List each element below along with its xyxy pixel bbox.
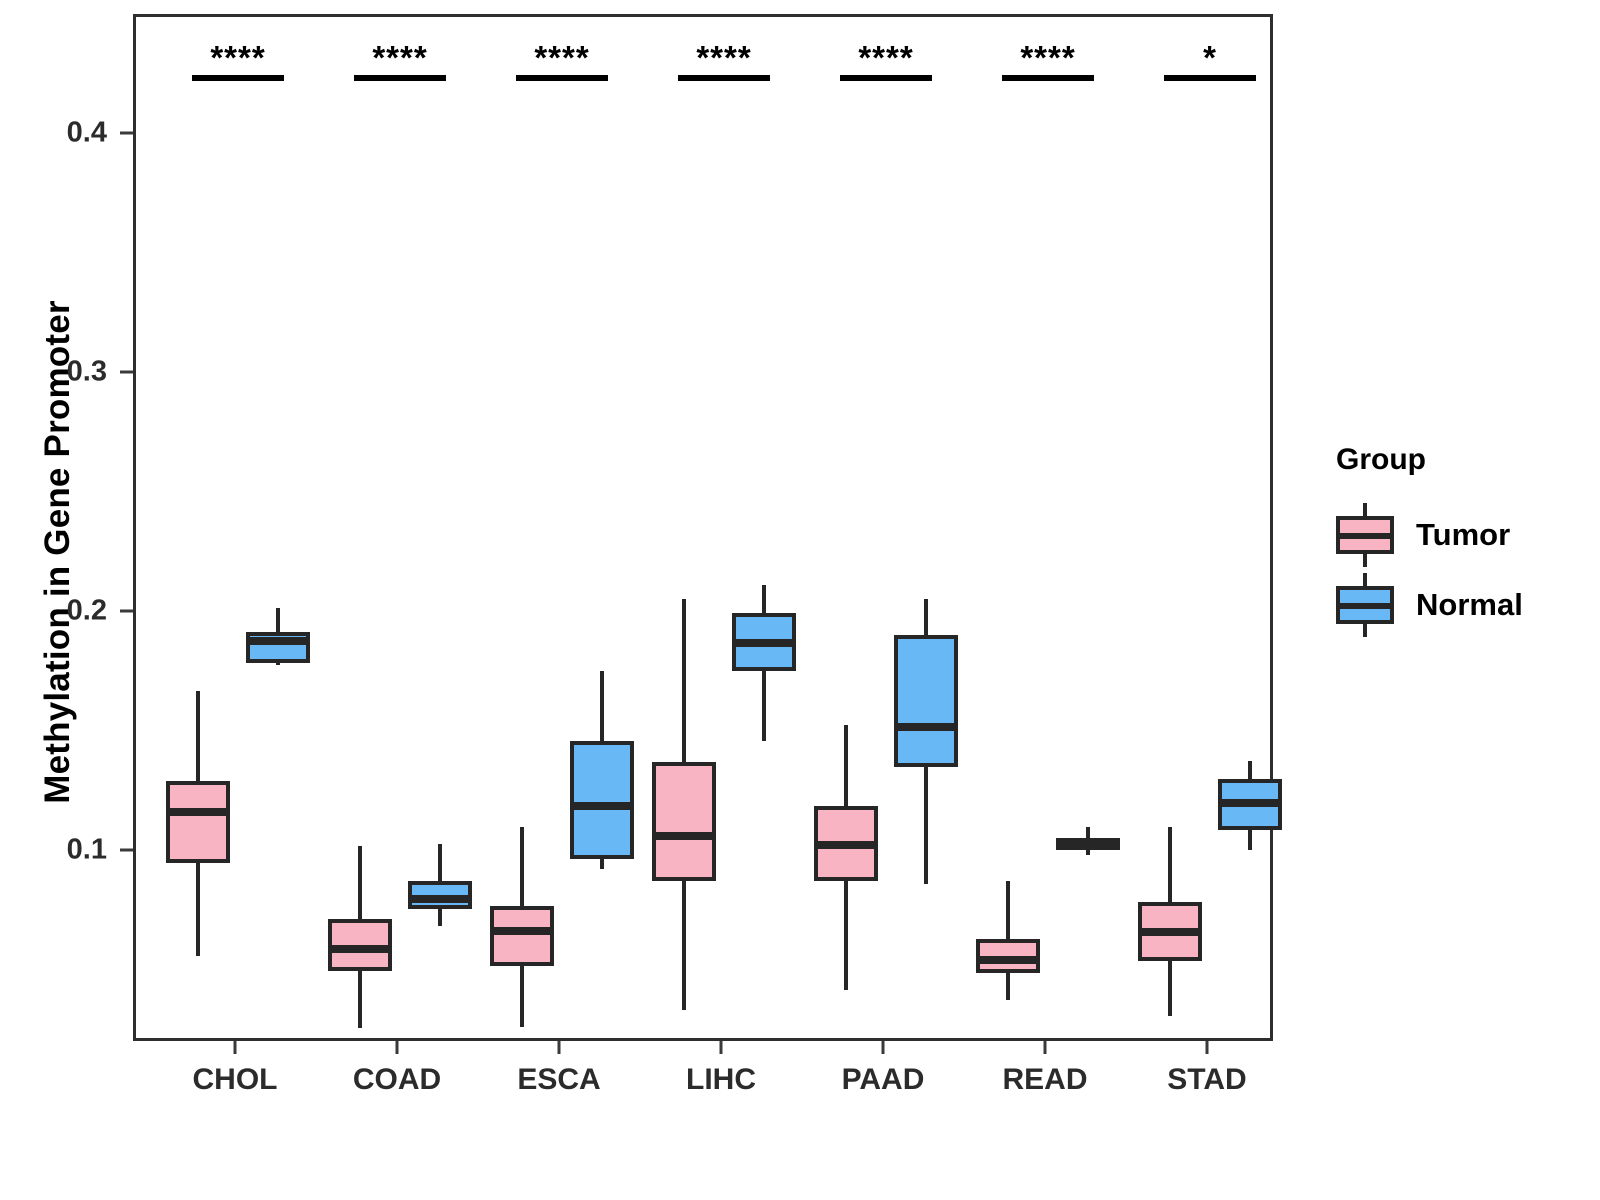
significance-label-esca: ****	[534, 41, 589, 74]
significance-label-chol: ****	[210, 41, 265, 74]
x-axis-tick-mark	[558, 1041, 561, 1054]
median-line	[1218, 799, 1282, 807]
legend-label: Normal	[1416, 587, 1523, 623]
y-axis-tick-label: 0.3	[67, 356, 107, 389]
y-axis-tick-mark	[120, 371, 133, 374]
x-axis-tick-mark	[882, 1041, 885, 1054]
legend-key-tumor-icon	[1336, 503, 1394, 567]
legend-key-normal-icon	[1336, 573, 1394, 637]
y-axis-tick-label: 0.2	[67, 595, 107, 628]
x-axis-tick-label-chol: CHOL	[193, 1063, 278, 1097]
x-axis-tick-label-stad: STAD	[1167, 1063, 1246, 1097]
y-axis-tick-mark	[120, 610, 133, 613]
y-axis-tick-mark	[120, 849, 133, 852]
significance-label-paad: ****	[858, 41, 913, 74]
legend: Group TumorNormal	[1336, 443, 1523, 643]
y-axis-tick-mark	[120, 132, 133, 135]
legend-median	[1336, 603, 1394, 609]
legend-median	[1336, 533, 1394, 539]
x-axis-tick-label-paad: PAAD	[842, 1063, 925, 1097]
y-axis-title: Methylation in Gene Promoter	[31, 202, 85, 902]
significance-label-lihc: ****	[696, 41, 751, 74]
significance-label-read: ****	[1020, 41, 1075, 74]
legend-label: Tumor	[1416, 517, 1510, 553]
x-axis-tick-label-esca: ESCA	[517, 1063, 600, 1097]
significance-label-coad: ****	[372, 41, 427, 74]
x-axis-tick-mark	[396, 1041, 399, 1054]
x-axis-tick-mark	[1206, 1041, 1209, 1054]
x-axis-tick-label-lihc: LIHC	[686, 1063, 756, 1097]
significance-label-stad: *	[1203, 41, 1217, 74]
y-axis-tick-label: 0.1	[67, 834, 107, 867]
y-axis-tick-label: 0.4	[67, 117, 107, 150]
x-axis-tick-mark	[720, 1041, 723, 1054]
plot-panel: *************************	[133, 14, 1273, 1041]
legend-title: Group	[1336, 443, 1523, 477]
x-axis-tick-label-coad: COAD	[353, 1063, 441, 1097]
legend-entry-tumor[interactable]: Tumor	[1336, 503, 1523, 567]
x-axis-tick-mark	[234, 1041, 237, 1054]
x-axis-tick-mark	[1044, 1041, 1047, 1054]
x-axis-tick-label-read: READ	[1002, 1063, 1087, 1097]
boxplot-figure: Methylation in Gene Promoter 0.10.20.30.…	[0, 0, 1600, 1200]
legend-entry-normal[interactable]: Normal	[1336, 573, 1523, 637]
legend-entries: TumorNormal	[1336, 503, 1523, 637]
boxplot-normal-stad	[136, 17, 1270, 1038]
plot-area: *************************	[136, 17, 1270, 1038]
